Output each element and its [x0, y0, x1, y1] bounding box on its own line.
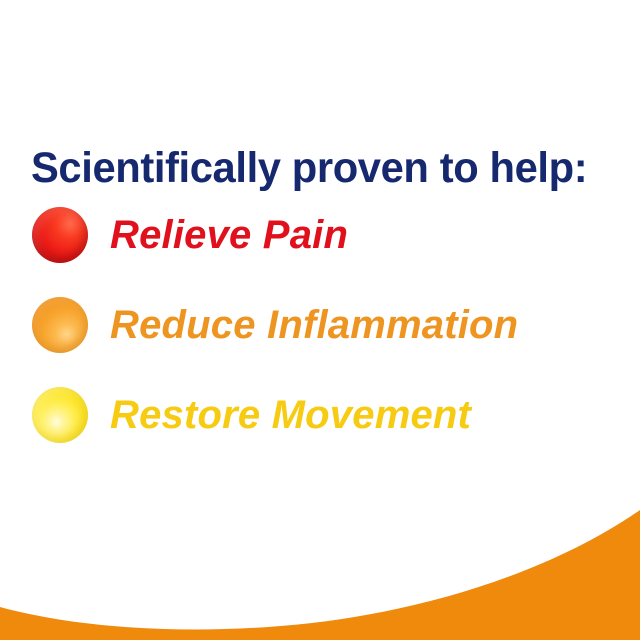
- benefit-list: Relieve Pain Reduce Inflammation Restore…: [0, 190, 640, 460]
- list-item: Restore Movement: [0, 370, 640, 460]
- swoosh-primary-shape: [0, 510, 640, 640]
- yellow-sphere-bullet-icon: [32, 387, 88, 443]
- red-sphere-bullet-icon: [32, 207, 88, 263]
- benefit-label: Restore Movement: [110, 393, 471, 437]
- page-title: Scientifically proven to help:: [31, 141, 613, 195]
- swoosh-secondary-shape: [0, 512, 640, 640]
- promo-poster: Scientifically proven to help: Relieve P…: [0, 0, 640, 640]
- benefit-label: Relieve Pain: [110, 213, 348, 257]
- benefit-label: Reduce Inflammation: [110, 303, 518, 347]
- orange-sphere-bullet-icon: [32, 297, 88, 353]
- list-item: Reduce Inflammation: [0, 280, 640, 370]
- list-item: Relieve Pain: [0, 190, 640, 280]
- swoosh-svg: [0, 510, 640, 640]
- orange-swoosh-decoration: [0, 510, 640, 640]
